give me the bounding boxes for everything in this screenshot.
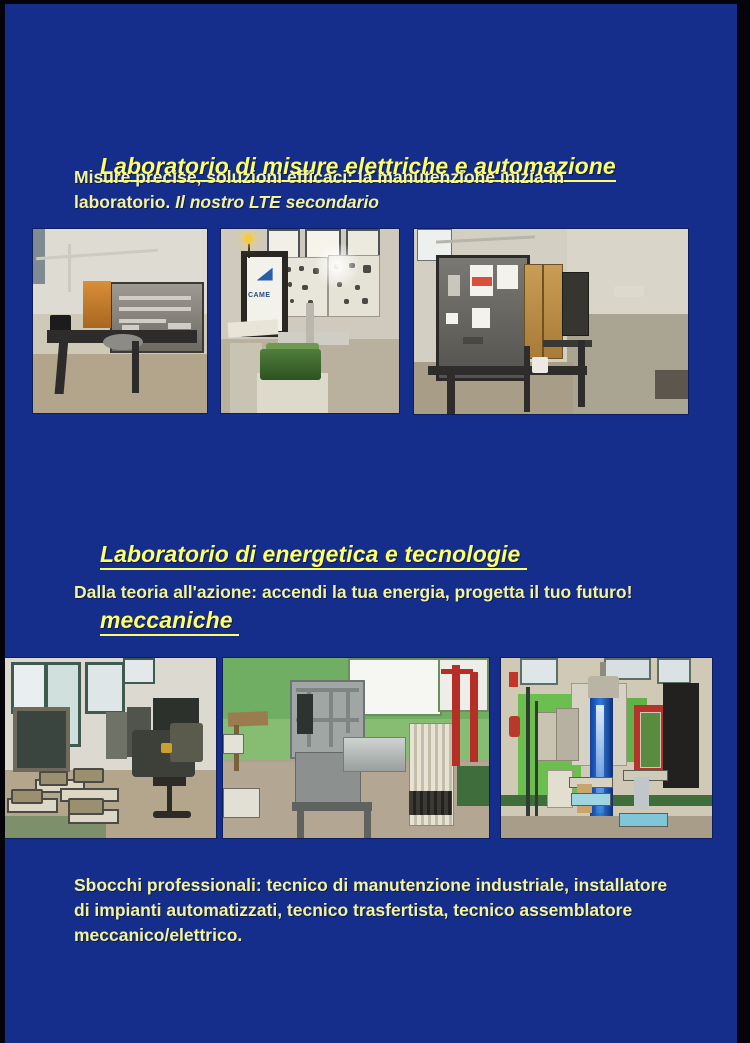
photo-fire-sign — [509, 672, 517, 686]
photo-chair — [223, 788, 260, 819]
photo-window — [657, 658, 691, 684]
photo-red-pipe — [470, 672, 478, 762]
photo-sun-flare — [314, 240, 360, 292]
photo-tower-model — [306, 303, 313, 343]
photo-chair — [39, 771, 68, 786]
photo-lamp-post — [248, 242, 250, 259]
photo-floor — [501, 816, 712, 838]
photo-bench-leg — [447, 373, 455, 414]
photo-dark-board — [663, 683, 699, 787]
career-outcomes-text: Sbocchi professionali: tecnico di manute… — [74, 873, 674, 948]
photo-bench-leg — [297, 807, 304, 838]
photo-bench-leg — [578, 340, 585, 407]
section-1-body-emphasis: Il nostro LTE secondario — [175, 192, 379, 212]
photo-blackboard — [13, 707, 70, 773]
slide-border-top — [0, 0, 750, 4]
photo-red-pipe — [452, 665, 460, 766]
photo-bench-leg — [132, 341, 139, 393]
photo-wall-vent — [614, 286, 644, 297]
slide-border-left — [0, 0, 5, 1043]
slide-canvas: Laboratorio di misure elettriche e autom… — [0, 0, 750, 1043]
section-2-body: Dalla teoria all'azione: accendi la tua … — [74, 580, 664, 605]
photo-chair — [634, 777, 649, 809]
photo-dark-fixture — [297, 694, 313, 734]
photo-desk — [619, 813, 667, 828]
photo-door-panel — [640, 712, 661, 768]
photo-chair — [11, 789, 42, 804]
photo-vertical-pipe — [68, 244, 71, 292]
photo-pole — [526, 687, 529, 827]
photo-window — [520, 658, 558, 685]
photo-chair — [223, 734, 244, 754]
photo-engine-unit — [170, 723, 204, 763]
section-1-body: Misure precise, soluzioni efficaci: la m… — [74, 165, 664, 215]
photo-lab-bench-electrical-panel — [33, 229, 207, 413]
section-2-heading-line1: Laboratorio di energetica e tecnologie — [100, 541, 527, 570]
photo-desk — [571, 793, 611, 806]
slide-border-right — [737, 0, 750, 1043]
photo-green-panel — [457, 766, 489, 806]
photo-bench-leg — [364, 807, 371, 838]
photo-stainless-sink — [343, 737, 406, 771]
photo-stand-stem — [167, 784, 171, 813]
photo-mechanical-workshop-classroom — [5, 658, 216, 838]
photo-pole — [535, 701, 538, 827]
photo-signal-lamp — [244, 233, 253, 244]
photo-stand-base — [153, 811, 191, 818]
photo-orange-board — [83, 281, 111, 329]
photo-bench-leg — [524, 346, 531, 413]
section-2-heading-line2: meccaniche — [100, 607, 239, 636]
photo-dark-control-panel — [562, 272, 589, 337]
photo-hood — [588, 676, 620, 698]
photo-right-desk — [655, 370, 688, 400]
photo-electrical-test-boards-bench — [414, 229, 688, 414]
photo-wall-instrument-panel — [556, 708, 579, 760]
photo-machine — [106, 712, 127, 759]
photo-bench-base — [292, 802, 372, 811]
photo-white-object — [532, 357, 548, 374]
photo-energy-lab-blue-column — [501, 658, 712, 838]
photo-yellow-part — [161, 743, 172, 754]
photo-white-cabinet — [547, 770, 572, 808]
photo-test-board-panel — [436, 255, 530, 381]
photo-radiator-shadow — [409, 791, 452, 814]
photo-wooden-board — [524, 264, 544, 359]
photo-chair — [73, 768, 104, 783]
photo-window — [123, 658, 154, 684]
photo-window — [85, 662, 125, 715]
photo-came-wordmark: CAME — [246, 292, 273, 299]
photo-hydraulic-test-bench-radiator — [223, 658, 489, 838]
photo-green-terrain-model — [260, 349, 321, 380]
photo-came-control-panel-lab: CAME — [221, 229, 399, 413]
photo-window — [438, 658, 489, 712]
photo-fire-extinguisher — [509, 716, 520, 738]
photo-chair — [68, 798, 104, 815]
